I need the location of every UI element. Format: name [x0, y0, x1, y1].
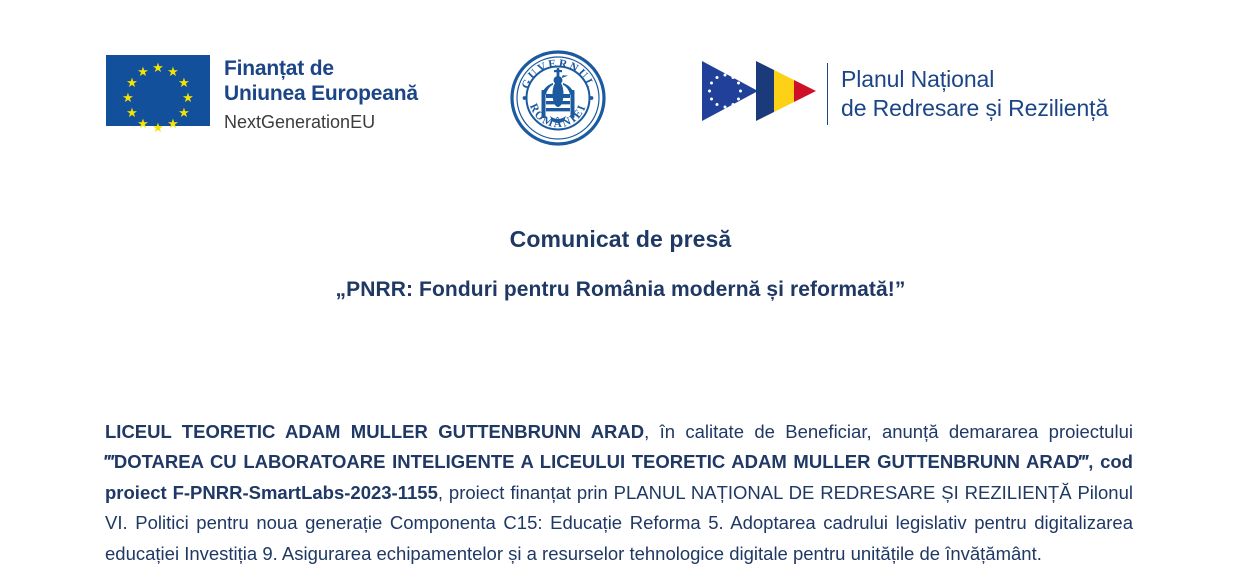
pnrr-logo-line1: Planul Național [841, 65, 1108, 94]
eu-star-icon: ★ [137, 66, 149, 78]
body-paragraph: LICEUL TEORETIC ADAM MULLER GUTTENBRUNN … [105, 417, 1133, 570]
eu-star-icon: ★ [126, 107, 138, 119]
pnrr-logo-text: Planul Național de Redresare și Rezilien… [841, 65, 1108, 123]
eu-flag-icon: ★ ★ ★ ★ ★ ★ ★ ★ ★ ★ ★ ★ [106, 55, 210, 126]
eu-star-icon: ★ [152, 122, 164, 134]
eu-star-icon: ★ [137, 118, 149, 130]
eu-star-icon: ★ [178, 107, 190, 119]
page-title: Comunicat de presă [0, 226, 1241, 253]
eu-star-icon: ★ [167, 118, 179, 130]
page-subtitle: „PNRR: Fonduri pentru România modernă și… [0, 278, 1241, 302]
eu-star-icon: ★ [122, 92, 134, 104]
pnrr-logo: Planul Național de Redresare și Rezilien… [700, 57, 1108, 130]
logo-header-band: ★ ★ ★ ★ ★ ★ ★ ★ ★ ★ ★ ★ Finanțat de Uniu… [0, 47, 1241, 149]
eu-star-icon: ★ [182, 92, 194, 104]
pnrr-logo-line2: de Redresare și Reziliență [841, 94, 1108, 123]
eu-star-icon: ★ [152, 62, 164, 74]
pnrr-arrows-icon [700, 57, 818, 130]
eu-star-icon: ★ [178, 77, 190, 89]
guvernul-romaniei-seal-icon: GUVERNUL ROMÂNIEI [510, 50, 606, 146]
eu-funding-logo: ★ ★ ★ ★ ★ ★ ★ ★ ★ ★ ★ ★ Finanțat de Uniu… [106, 55, 418, 133]
body-text-1: , în calitate de Beneficiar, anunță dema… [644, 421, 1133, 442]
press-release-document: ★ ★ ★ ★ ★ ★ ★ ★ ★ ★ ★ ★ Finanțat de Uniu… [0, 0, 1241, 577]
eu-logo-nextgeneration: NextGenerationEU [224, 112, 418, 133]
eu-logo-text: Finanțat de Uniunea Europeană NextGenera… [224, 55, 418, 133]
eu-logo-line1: Finanțat de [224, 56, 418, 81]
beneficiary-name: LICEUL TEORETIC ADAM MULLER GUTTENBRUNN … [105, 421, 644, 442]
eu-logo-line2: Uniunea Europeană [224, 81, 418, 106]
pnrr-divider [827, 63, 828, 125]
